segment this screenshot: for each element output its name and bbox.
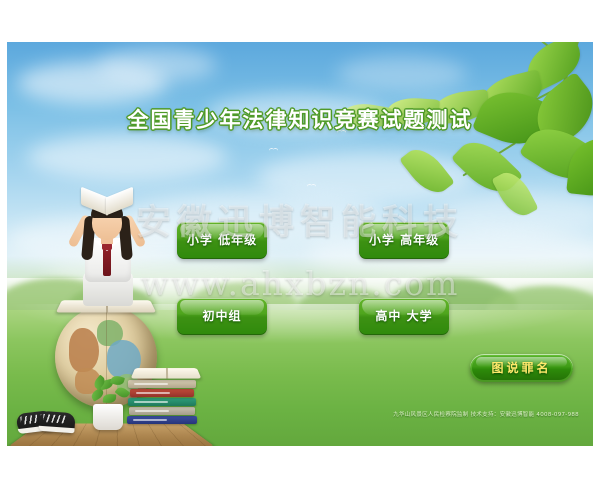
- bird-icon: [269, 148, 278, 153]
- book-on-head: [81, 192, 133, 210]
- schoolgirl-figure: [69, 194, 145, 306]
- page-title: 全国青少年法律知识竞赛试题测试: [7, 104, 593, 134]
- crime-illustration-button[interactable]: 图说罪名: [470, 354, 573, 382]
- crime-illustration-label: 图说罪名: [470, 354, 573, 382]
- screenshot-root: 全国青少年法律知识竞赛试题测试 小学 低年级 小学 高年级 初中组 高中 大学 …: [0, 0, 600, 488]
- grade-button-senior-univ[interactable]: 高中 大学: [359, 298, 449, 335]
- footer-credit: 九华山风景区人民检察院监制 技术支持：安徽迅博智能 4008-097-988: [7, 410, 593, 418]
- hero-photo: [7, 176, 222, 446]
- grade-button-label: 高中 大学: [359, 298, 449, 335]
- hero-stage: 全国青少年法律知识竞赛试题测试 小学 低年级 小学 高年级 初中组 高中 大学 …: [7, 42, 593, 446]
- grade-button-primary-upper[interactable]: 小学 高年级: [359, 222, 449, 259]
- plant-leaves: [87, 372, 129, 408]
- grade-button-label: 小学 高年级: [359, 222, 449, 259]
